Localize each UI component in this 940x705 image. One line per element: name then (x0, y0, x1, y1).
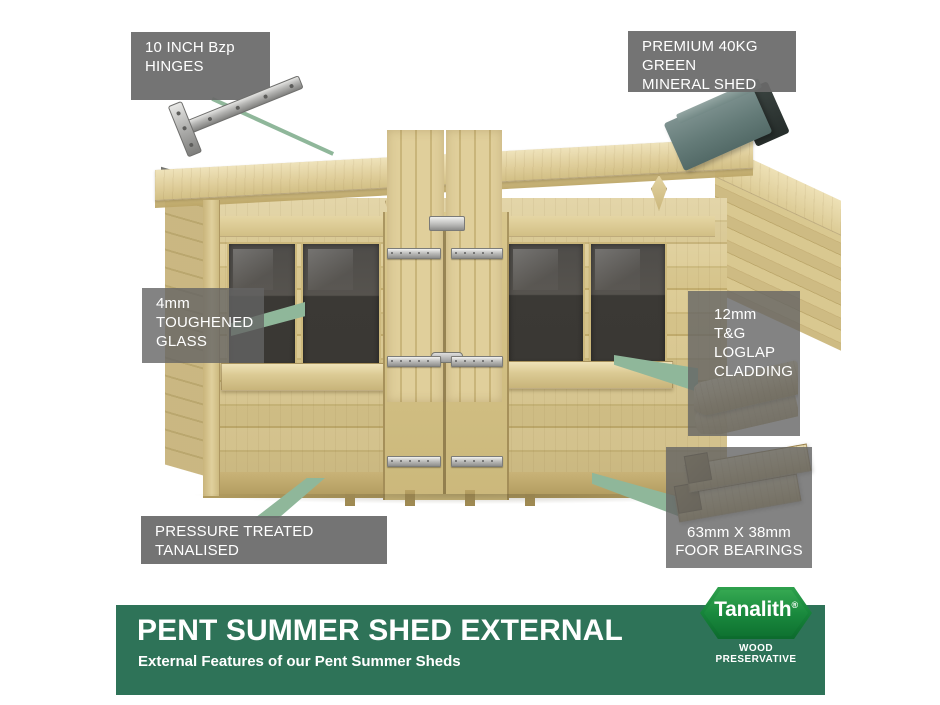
callout-felt-line-1: PREMIUM 40KG GREEN (642, 38, 784, 76)
registered-mark-icon: ® (791, 600, 797, 610)
shed-window-sill (221, 363, 387, 391)
door-hinge-icon (451, 356, 503, 367)
callout-glass: 4mm TOUGHENED GLASS (142, 288, 264, 363)
callout-bearings-line-2: FOOR BEARINGS (666, 542, 812, 561)
callout-cladding: 12mm T&G LOGLAP CLADDING (688, 291, 800, 436)
callout-felt: PREMIUM 40KG GREEN MINERAL SHED FELT (628, 31, 796, 92)
callout-cladding-text: 12mm T&G LOGLAP CLADDING (702, 298, 788, 382)
door-hinge-icon (387, 248, 441, 259)
tee-hinge-photo (160, 48, 320, 163)
infographic-canvas: 10 INCH Bzp HINGES PREMIUM 40KG GREEN MI… (0, 0, 940, 705)
tanalith-logo: Tanalith® WOOD PRESERVATIVE (700, 587, 818, 663)
door-hinge-icon (451, 456, 503, 467)
callout-glass-line-3: GLASS (156, 333, 252, 352)
page-subtitle: External Features of our Pent Summer She… (138, 653, 461, 670)
callout-felt-line-2: MINERAL SHED FELT (642, 76, 784, 114)
door-hinge-icon (387, 356, 441, 367)
door-hinge-icon (387, 456, 441, 467)
callout-pressure-line-2: TIMBER MATERIAL THROUGHOUT. (155, 561, 375, 599)
logo-word-text: Tanalith (714, 598, 791, 621)
logo-tagline: WOOD PRESERVATIVE (700, 643, 812, 665)
callout-bearings: 63mm X 38mm FOOR BEARINGS (666, 447, 812, 568)
footer-banner: PENT SUMMER SHED EXTERNAL External Featu… (116, 605, 825, 695)
shed-window (589, 242, 667, 366)
callout-cladding-line-2: LOGLAP (714, 344, 788, 363)
callout-bearings-text: 63mm X 38mm FOOR BEARINGS (666, 524, 812, 562)
callout-glass-line-2: TOUGHENED (156, 314, 252, 333)
door-latch-icon (429, 216, 465, 231)
callout-cladding-line-1: 12mm T&G (714, 306, 788, 344)
logo-wordmark: Tanalith® (700, 598, 812, 622)
callout-cladding-line-3: CLADDING (714, 363, 788, 382)
door-hinge-icon (451, 248, 503, 259)
callout-pressure-line-1: PRESSURE TREATED TANALISED (155, 523, 375, 561)
shed-window (301, 242, 381, 368)
callout-glass-line-1: 4mm (156, 295, 252, 314)
callout-bearings-line-1: 63mm X 38mm (666, 524, 812, 543)
callout-pressure-treated: PRESSURE TREATED TANALISED TIMBER MATERI… (141, 516, 387, 564)
shed-window (507, 242, 585, 366)
page-title: PENT SUMMER SHED EXTERNAL (137, 614, 623, 648)
